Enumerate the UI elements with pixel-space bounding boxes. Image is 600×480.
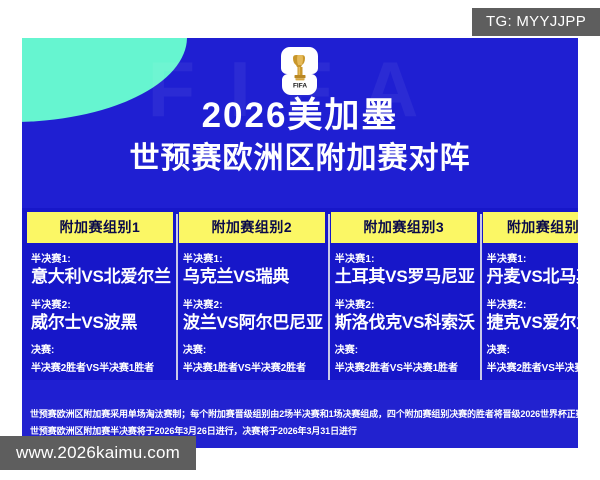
- playoff-group-column: 附加赛组别3 半决赛1: 土耳其VS罗马尼亚 半决赛2: 斯洛伐克VS科索沃 决…: [328, 212, 480, 380]
- semifinal-2-label: 半决赛2:: [31, 296, 171, 311]
- semifinal-1-matchup: 土耳其VS罗马尼亚: [335, 267, 475, 287]
- fixtures-poster: FIFA FIFA 2026美加墨 世预赛欧洲区附加赛对阵: [22, 38, 578, 448]
- semifinal-2-matchup: 威尔士VS波黑: [31, 313, 171, 333]
- final-matchup: 半决赛1胜者VS半决赛2胜者: [183, 359, 323, 374]
- semifinal-2-matchup: 波兰VS阿尔巴尼亚: [183, 313, 323, 333]
- semifinal-1-label: 半决赛1:: [487, 250, 578, 265]
- footnote-format: 世预赛欧洲区附加赛采用单场淘汰赛制；每个附加赛晋级组别由2场半决赛和1场决赛组成…: [30, 406, 572, 423]
- tg-channel-badge: TG: MYYJJPP: [472, 8, 600, 36]
- final-matchup: 半决赛2胜者VS半决赛1胜者: [31, 359, 171, 374]
- group-header: 附加赛组别4: [483, 212, 578, 243]
- group-body: 半决赛1: 丹麦VS北马其顿 半决赛2: 捷克VS爱尔兰 决赛: 半决赛2胜者V…: [483, 243, 578, 380]
- semifinal-1-matchup: 意大利VS北爱尔兰: [31, 267, 171, 287]
- group-body: 半决赛1: 意大利VS北爱尔兰 半决赛2: 威尔士VS波黑 决赛: 半决赛2胜者…: [27, 243, 173, 380]
- poster-title-block: 2026美加墨 世预赛欧洲区附加赛对阵: [22, 96, 578, 178]
- group-header: 附加赛组别3: [331, 212, 477, 243]
- semifinal-1-matchup: 丹麦VS北马其顿: [487, 267, 578, 287]
- semifinal-2-label: 半决赛2:: [183, 296, 323, 311]
- group-header: 附加赛组别1: [27, 212, 173, 243]
- final-matchup: 半决赛2胜者VS半决赛1胜者: [487, 359, 578, 374]
- poster-hero: FIFA FIFA 2026美加墨 世预赛欧洲区附加赛对阵: [22, 38, 578, 208]
- final-label: 决赛:: [487, 341, 578, 356]
- site-watermark: www.2026kaimu.com: [0, 436, 196, 470]
- semifinal-1-label: 半决赛1:: [335, 250, 475, 265]
- group-header: 附加赛组别2: [179, 212, 325, 243]
- semifinal-2-label: 半决赛2:: [335, 296, 475, 311]
- semifinal-2-matchup: 斯洛伐克VS科索沃: [335, 313, 475, 333]
- semifinal-2-label: 半决赛2:: [487, 296, 578, 311]
- semifinal-1-matchup: 乌克兰VS瑞典: [183, 267, 323, 287]
- semifinal-2-matchup: 捷克VS爱尔兰: [487, 313, 578, 333]
- final-matchup: 半决赛2胜者VS半决赛1胜者: [335, 359, 475, 374]
- poster-title-sub: 世预赛欧洲区附加赛对阵: [22, 140, 578, 178]
- svg-text:FIFA: FIFA: [293, 83, 307, 90]
- semifinal-1-label: 半决赛1:: [31, 250, 171, 265]
- fifa-26-logo: FIFA: [281, 46, 319, 96]
- playoff-group-column: 附加赛组别2 半决赛1: 乌克兰VS瑞典 半决赛2: 波兰VS阿尔巴尼亚 决赛:…: [176, 212, 328, 380]
- group-body: 半决赛1: 土耳其VS罗马尼亚 半决赛2: 斯洛伐克VS科索沃 决赛: 半决赛2…: [331, 243, 477, 380]
- playoff-group-column: 附加赛组别1 半决赛1: 意大利VS北爱尔兰 半决赛2: 威尔士VS波黑 决赛:…: [24, 212, 176, 380]
- group-body: 半决赛1: 乌克兰VS瑞典 半决赛2: 波兰VS阿尔巴尼亚 决赛: 半决赛1胜者…: [179, 243, 325, 380]
- semifinal-1-label: 半决赛1:: [183, 250, 323, 265]
- playoff-group-column: 附加赛组别4 半决赛1: 丹麦VS北马其顿 半决赛2: 捷克VS爱尔兰 决赛: …: [480, 212, 578, 380]
- final-label: 决赛:: [31, 341, 171, 356]
- final-label: 决赛:: [183, 341, 323, 356]
- final-label: 决赛:: [335, 341, 475, 356]
- playoff-groups-grid: 附加赛组别1 半决赛1: 意大利VS北爱尔兰 半决赛2: 威尔士VS波黑 决赛:…: [22, 208, 578, 380]
- poster-title-main: 2026美加墨: [22, 96, 578, 136]
